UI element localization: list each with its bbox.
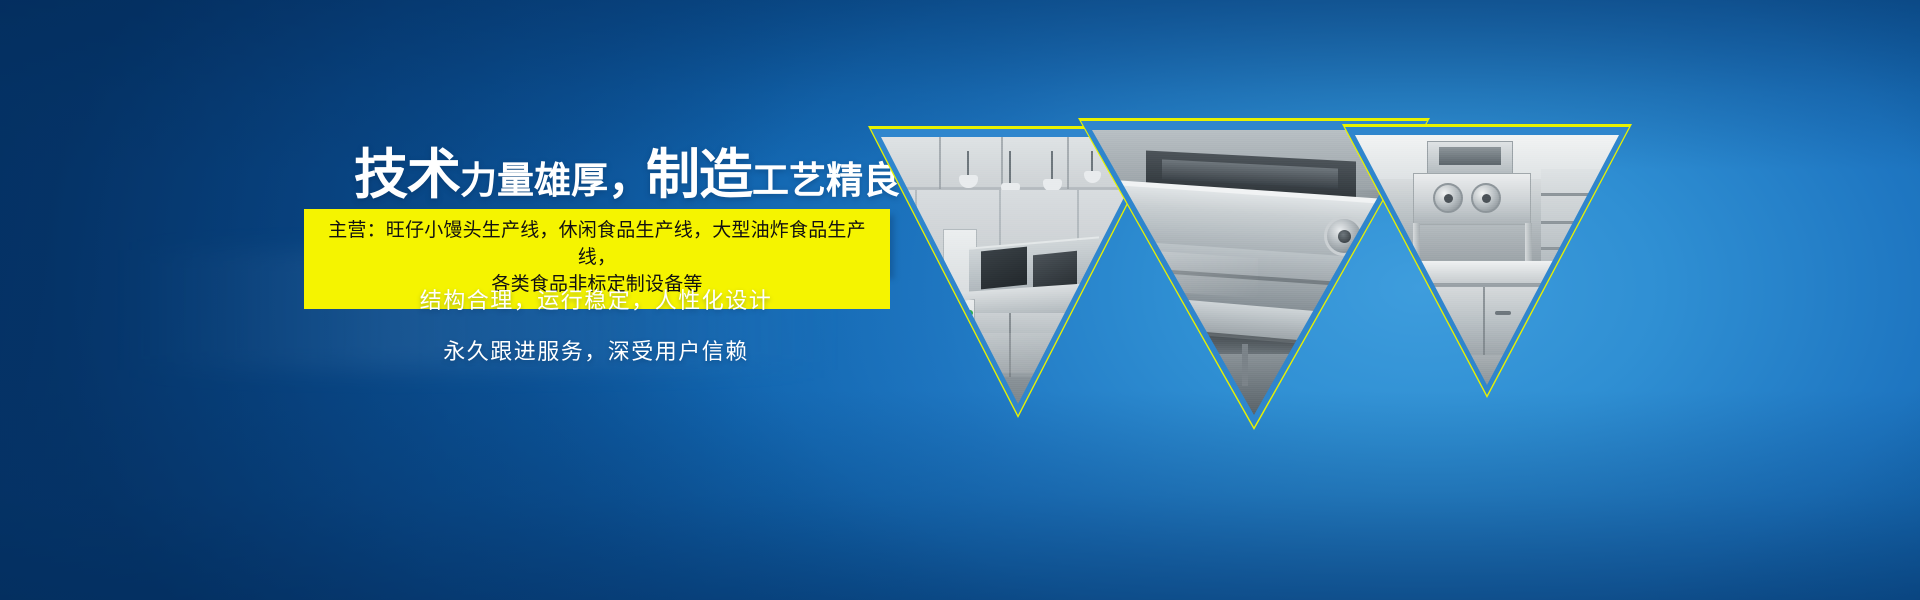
image-gallery <box>850 118 1510 430</box>
banner-copy: 技术力量雄厚，制造工艺精良 <box>296 148 896 202</box>
gallery-item-3[interactable] <box>1342 124 1632 398</box>
highlight-line-1: 主营：旺仔小馒头生产线，休闲食品生产线，大型油炸食品生产线， <box>328 220 866 268</box>
banner-subtitles: 结构合理，运行稳定，人性化设计 永久跟进服务，深受用户信赖 <box>296 290 896 363</box>
headline-comma: ， <box>608 154 646 203</box>
headline-part-2: 力量雄厚 <box>460 160 608 201</box>
subtitle-line-1: 结构合理，运行稳定，人性化设计 <box>296 290 896 312</box>
subtitle-line-2: 永久跟进服务，深受用户信赖 <box>296 341 896 363</box>
headline-part-1: 技术 <box>354 145 460 205</box>
headline: 技术力量雄厚，制造工艺精良 <box>354 148 896 202</box>
gallery-item-3-photo <box>1355 135 1619 385</box>
banner-stage: 技术力量雄厚，制造工艺精良 主营：旺仔小馒头生产线，休闲食品生产线，大型油炸食品… <box>0 0 1920 600</box>
headline-part-3: 制造 <box>646 145 752 205</box>
